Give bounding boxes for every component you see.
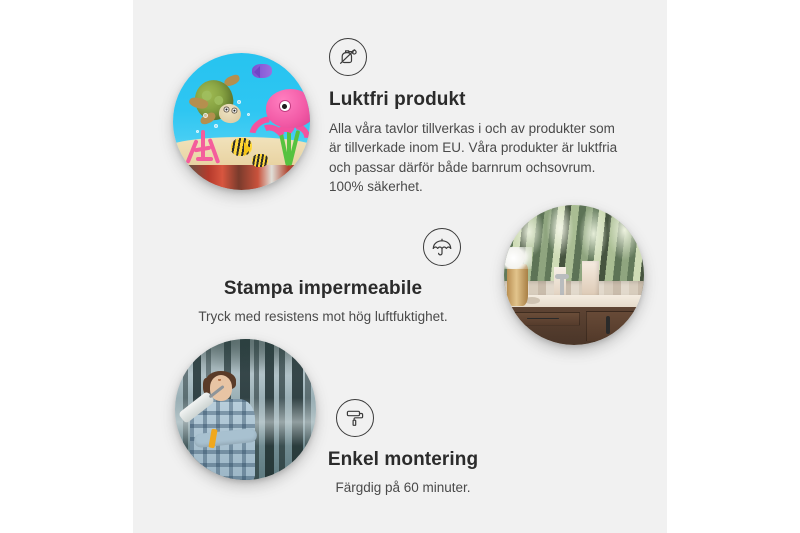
bathroom-scene (504, 205, 644, 345)
feature-title: Stampa impermeabile (155, 277, 491, 301)
feature-odourless: Luktfri produkt Alla våra tavlor tillver… (329, 38, 639, 197)
purple-fish-icon (252, 64, 271, 78)
striped-fish-icon (231, 138, 253, 156)
feature-title: Luktfri produkt (329, 88, 639, 112)
no-perfume-icon (329, 38, 367, 76)
vase-icon (507, 264, 528, 306)
feature-body: Alla våra tavlor tillverkas i och av pro… (329, 119, 629, 197)
sea-turtle-icon (191, 78, 246, 130)
tree-canopy (175, 339, 316, 376)
underwater-scene (173, 53, 310, 190)
umbrella-icon (423, 228, 461, 266)
content-canvas: Luktfri produkt Alla våra tavlor tillver… (133, 0, 667, 533)
coral-icon (184, 130, 225, 174)
feature-image-waterproof (504, 205, 644, 345)
octopus-icon (255, 89, 310, 152)
flowers-icon (504, 247, 532, 269)
infographic-page: Luktfri produkt Alla våra tavlor tillver… (0, 0, 800, 533)
paint-roller-icon (336, 399, 374, 437)
towel-icon (582, 261, 599, 297)
small-striped-fish-icon (252, 154, 267, 166)
feature-easy-install: Enkel montering Färgdig på 60 minuter. (258, 399, 548, 497)
feature-image-odourless (173, 53, 310, 190)
feature-title: Enkel montering (258, 448, 548, 472)
feature-body: Tryck med resistens mot hög luftfuktighe… (155, 307, 491, 327)
vanity-cabinet (504, 307, 644, 345)
feature-waterproof: Stampa impermeabile Tryck med resistens … (155, 228, 491, 326)
feature-body: Färgdig på 60 minuter. (258, 478, 548, 498)
